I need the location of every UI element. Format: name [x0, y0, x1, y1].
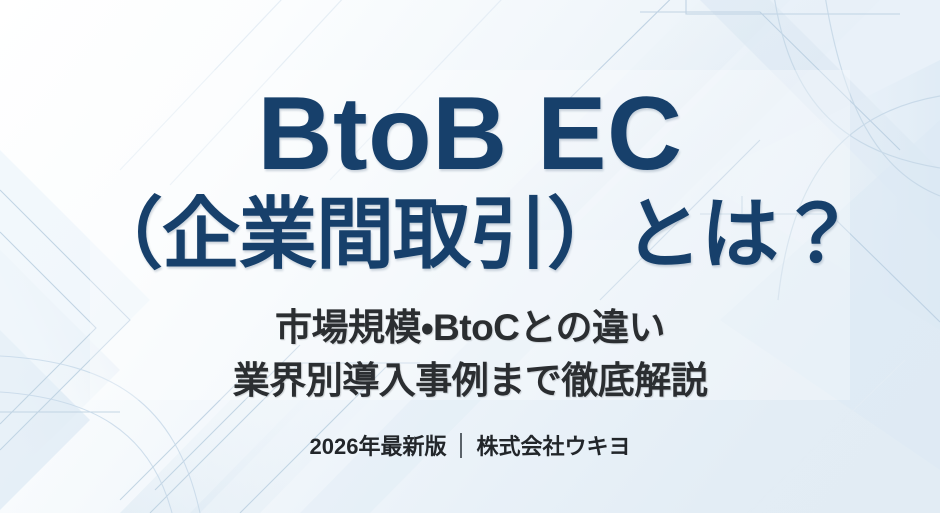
meta-separator [460, 433, 462, 458]
meta-row: 2026年最新版 株式会社ウキヨ [310, 407, 631, 461]
banner-content: BtoB EC （企業間取引）とは？ 市場規模・BtoCとの違い 業界別導入事例… [0, 0, 940, 513]
lede-text: 市場規模・BtoCとの違い 業界別導入事例まで徹底解説 [233, 276, 708, 407]
lede-line-2: 業界別導入事例まで徹底解説 [233, 355, 708, 408]
lede-line-1: 市場規模・BtoCとの違い [233, 302, 708, 355]
hero-banner: BtoB EC （企業間取引）とは？ 市場規模・BtoCとの違い 業界別導入事例… [0, 0, 940, 513]
company-name: 株式会社ウキヨ [476, 429, 630, 461]
title-main: BtoB EC [257, 0, 682, 186]
title-sub: （企業間取引）とは？ [85, 186, 855, 276]
edition-label: 2026年最新版 [310, 429, 447, 461]
